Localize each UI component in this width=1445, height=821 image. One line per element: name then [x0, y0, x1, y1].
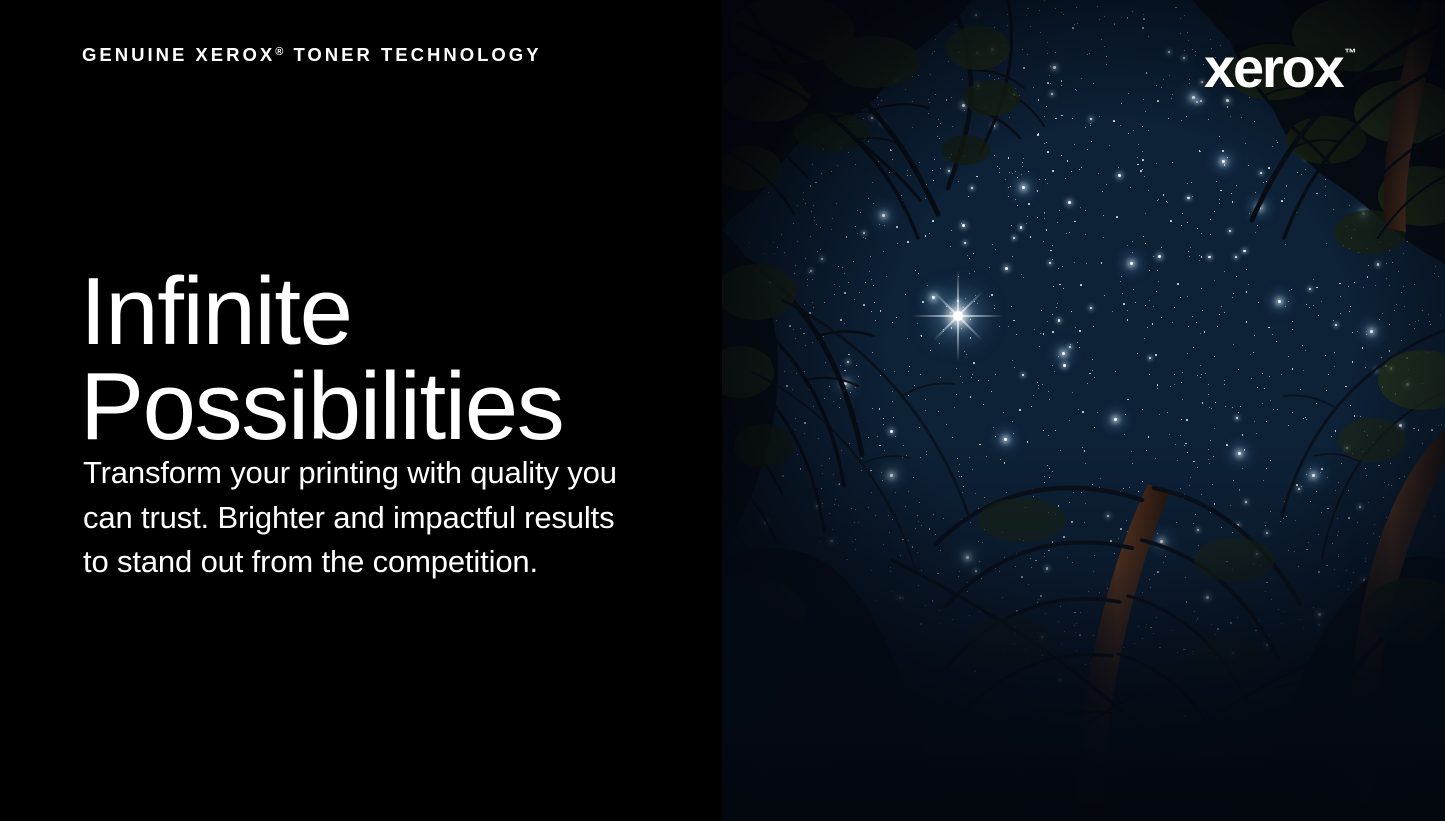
- night-sky-photo: xerox™: [722, 0, 1445, 821]
- trademark-icon: ™: [1344, 46, 1356, 60]
- sky-bottom-shade: [722, 443, 1445, 821]
- subcopy-text: Transform your printing with quality you…: [83, 451, 623, 585]
- registered-trademark-icon: ®: [275, 46, 285, 58]
- page-title: Infinite Possibilities: [80, 264, 680, 454]
- left-text-panel: GENUINE XEROX® TONER TECHNOLOGY Infinite…: [0, 0, 722, 821]
- xerox-wordmark: xerox: [1204, 40, 1342, 96]
- eyebrow-text-pre: GENUINE XEROX: [82, 44, 275, 65]
- marketing-banner: GENUINE XEROX® TONER TECHNOLOGY Infinite…: [0, 0, 1445, 821]
- headline-line-1: Infinite: [80, 264, 680, 359]
- headline-line-2: Possibilities: [80, 359, 680, 454]
- eyebrow-text-post: TONER TECHNOLOGY: [285, 44, 541, 65]
- eyebrow-text: GENUINE XEROX® TONER TECHNOLOGY: [82, 44, 542, 66]
- xerox-logo: xerox™: [1204, 40, 1356, 96]
